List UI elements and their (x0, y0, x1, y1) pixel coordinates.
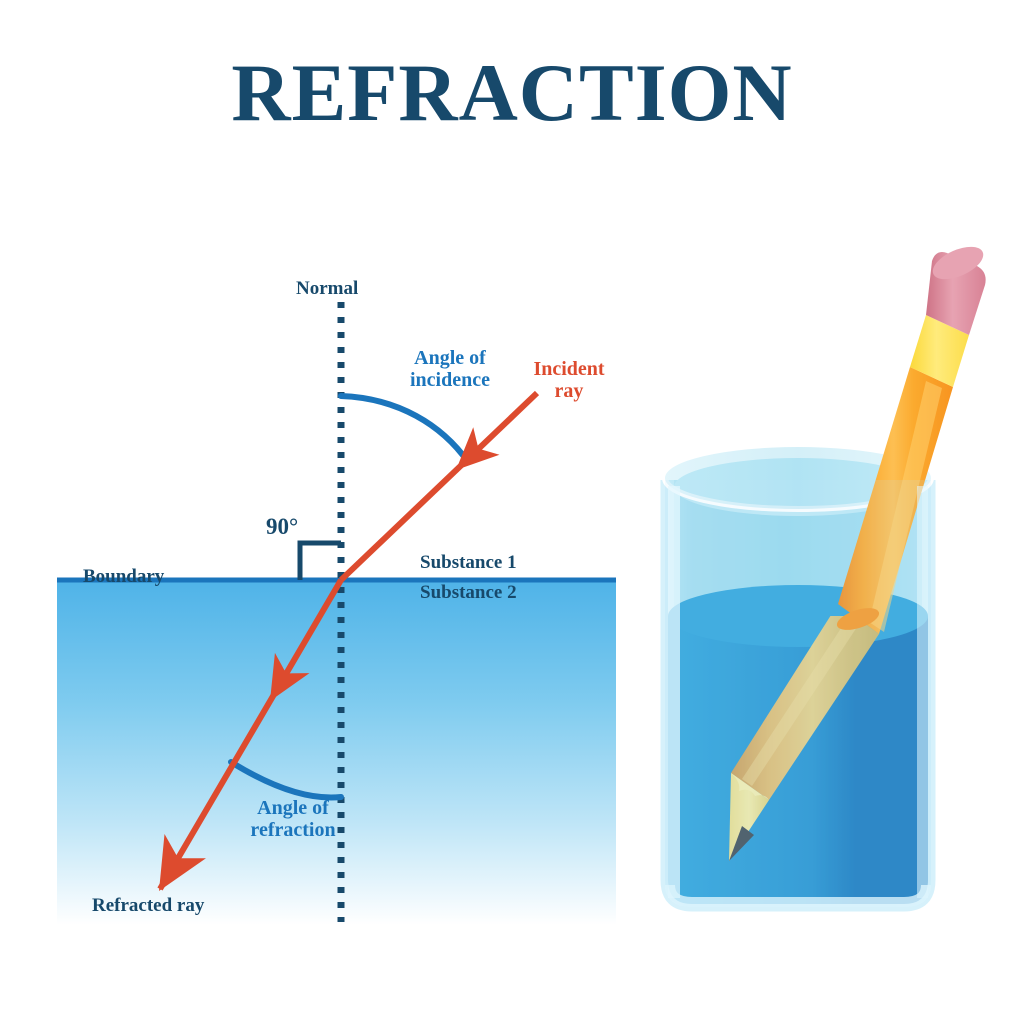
illustration-canvas: REFRACTION (0, 0, 1024, 1024)
angle-of-incidence-arc (341, 396, 468, 462)
pencil-in-glass-illustration (665, 240, 988, 907)
right-angle-marker (300, 543, 341, 580)
diagram-graphics (0, 0, 1024, 1024)
glass-right-highlight (917, 486, 928, 898)
label-incident-ray: Incident ray (514, 359, 624, 402)
glass-front-wall (665, 480, 931, 907)
glass-left-highlight (668, 486, 680, 898)
label-right-angle: 90° (266, 515, 298, 540)
label-boundary: Boundary (83, 567, 164, 588)
label-refracted-ray: Refracted ray (92, 896, 204, 917)
label-substance-1: Substance 1 (420, 553, 517, 574)
label-angle-of-incidence: Angle of incidence (385, 348, 515, 391)
substance-2-region (57, 581, 616, 925)
label-substance-2: Substance 2 (420, 583, 517, 604)
label-normal: Normal (296, 279, 358, 300)
label-angle-of-refraction: Angle of refraction (228, 798, 358, 841)
